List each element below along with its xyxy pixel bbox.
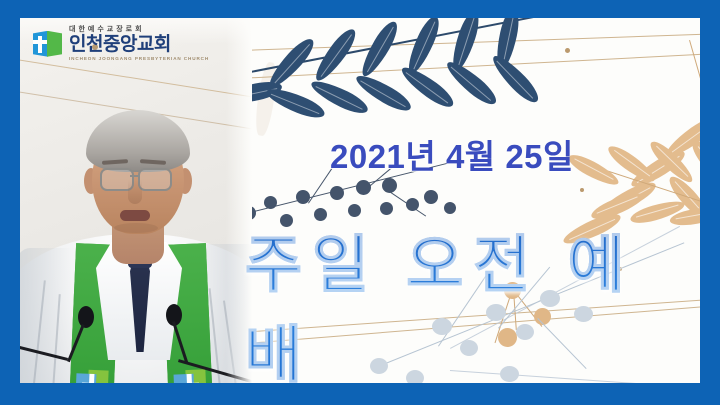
pastor-photo (20, 18, 252, 383)
berry (330, 186, 344, 200)
leaf (264, 34, 318, 91)
logo-denomination: 대한예수교장로회 (69, 26, 209, 33)
broadcast-slide: 대한예수교장로회 인천중앙교회 INCHEON JOONGANG PRESBYT… (0, 0, 720, 405)
branch-stem (387, 190, 426, 217)
branch-stem (600, 168, 700, 215)
leaf (604, 141, 658, 186)
berry (424, 190, 438, 204)
photo-content (20, 18, 252, 383)
decor-dot (565, 48, 570, 53)
cross-icon (38, 36, 42, 53)
page-title: 주일 오전 예배 (245, 214, 700, 383)
leaf (448, 18, 483, 73)
stole-emblem (75, 369, 109, 383)
nose (128, 180, 142, 204)
leaf (442, 57, 500, 110)
leaf (403, 18, 444, 77)
slide-card: 대한예수교장로회 인천중앙교회 INCHEON JOONGANG PRESBYT… (20, 18, 700, 383)
leaf (688, 138, 700, 191)
stole-emblem (173, 369, 207, 383)
leaf (352, 70, 414, 116)
service-date: 2021년 4월 25일 (330, 130, 574, 178)
berry (382, 178, 397, 193)
branch-stem (689, 40, 700, 213)
leaf (357, 18, 403, 80)
leaf (646, 137, 697, 187)
glasses-lens (138, 168, 172, 191)
branch-stem (235, 18, 559, 75)
berry (356, 180, 371, 195)
leaf (308, 76, 371, 118)
leaf (310, 25, 360, 85)
chin-shadow (114, 223, 158, 233)
tan-leaf-branch-upper (560, 40, 700, 220)
leaf (397, 62, 457, 112)
logo-church-name: 인천중앙교회 (69, 35, 209, 54)
cross-icon (88, 374, 94, 383)
leaf (264, 84, 328, 123)
berry (406, 198, 419, 211)
leaf (493, 18, 523, 71)
leaf (690, 137, 700, 193)
leaf (488, 51, 543, 107)
decor-dot (580, 188, 584, 192)
watermark-leaf (253, 61, 279, 137)
open-door-cross-icon (32, 29, 62, 59)
berry (264, 196, 277, 209)
leaf (627, 146, 688, 192)
leaf (662, 112, 700, 161)
glasses-bridge (130, 175, 138, 177)
door-panel-green (47, 31, 62, 57)
robe-shadow (20, 248, 72, 383)
mouth (120, 210, 150, 221)
navy-leaf-branch (235, 18, 555, 130)
logo-text: 대한예수교장로회 인천중앙교회 INCHEON JOONGANG PRESBYT… (69, 26, 209, 62)
logo-english-name: INCHEON JOONGANG PRESBYTERIAN CHURCH (69, 57, 209, 62)
berry (296, 190, 310, 204)
church-logo: 대한예수교장로회 인천중앙교회 INCHEON JOONGANG PRESBYT… (32, 26, 209, 62)
berry (444, 202, 456, 214)
